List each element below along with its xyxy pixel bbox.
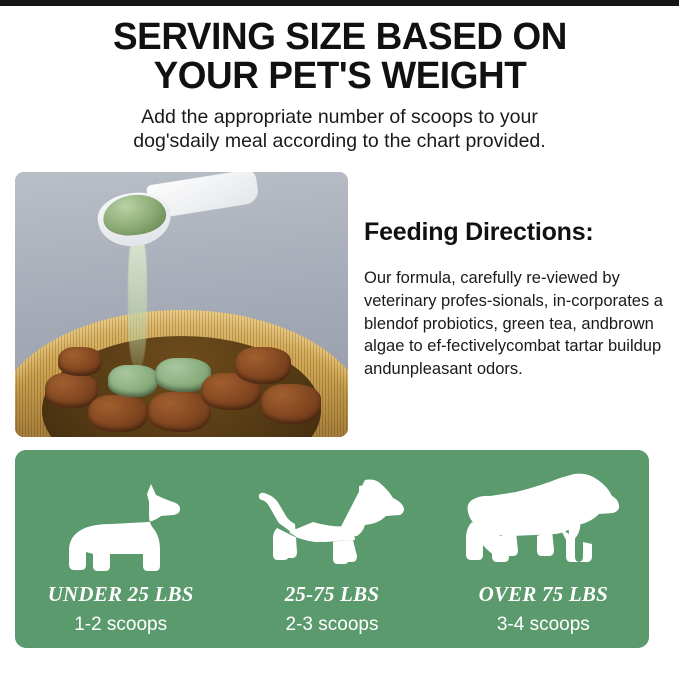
- feeding-directions-body: Our formula, carefully re-viewed by vete…: [364, 267, 664, 381]
- top-divider: [0, 0, 679, 6]
- page-subtitle-line-2: dog'sdaily meal according to the chart p…: [50, 129, 630, 154]
- weight-label: OVER 75 LBS: [479, 582, 608, 607]
- header: SERVING SIZE BASED ON YOUR PET'S WEIGHT …: [0, 18, 679, 154]
- serving-chart-panel: UNDER 25 LBS 1-2 scoops 25-75 LBS 2-3 sc…: [15, 450, 649, 648]
- kibble-piece: [58, 347, 101, 376]
- page-subtitle: Add the appropriate number of scoops to …: [50, 105, 630, 155]
- scoops-label: 1-2 scoops: [74, 614, 167, 636]
- large-dog-icon: [456, 450, 631, 578]
- weight-label: UNDER 25 LBS: [48, 582, 194, 607]
- scoops-label: 3-4 scoops: [497, 614, 590, 636]
- scoops-label: 2-3 scoops: [286, 614, 379, 636]
- infographic-page: SERVING SIZE BASED ON YOUR PET'S WEIGHT …: [0, 0, 679, 679]
- serving-chart-columns: UNDER 25 LBS 1-2 scoops 25-75 LBS 2-3 sc…: [15, 450, 649, 648]
- product-photo: [15, 172, 348, 437]
- serving-column-large: OVER 75 LBS 3-4 scoops: [438, 450, 649, 648]
- small-dog-icon: [55, 450, 187, 578]
- serving-column-small: UNDER 25 LBS 1-2 scoops: [15, 450, 226, 648]
- kibble-piece: [235, 347, 292, 384]
- kibble-piece: [261, 384, 321, 424]
- page-title-line-1: SERVING SIZE BASED ON: [39, 18, 640, 57]
- kibble-piece-green: [108, 365, 158, 397]
- kibble-piece: [88, 395, 148, 432]
- page-title: SERVING SIZE BASED ON YOUR PET'S WEIGHT: [39, 18, 640, 96]
- feeding-directions: Feeding Directions: Our formula, careful…: [364, 218, 664, 381]
- page-title-line-2: YOUR PET'S WEIGHT: [39, 57, 640, 96]
- weight-label: 25-75 LBS: [285, 582, 380, 607]
- page-subtitle-line-1: Add the appropriate number of scoops to …: [50, 105, 630, 130]
- serving-column-medium: 25-75 LBS 2-3 scoops: [226, 450, 437, 648]
- medium-dog-icon: [253, 450, 411, 578]
- powder-stream: [128, 230, 146, 368]
- feeding-directions-title: Feeding Directions:: [364, 218, 664, 247]
